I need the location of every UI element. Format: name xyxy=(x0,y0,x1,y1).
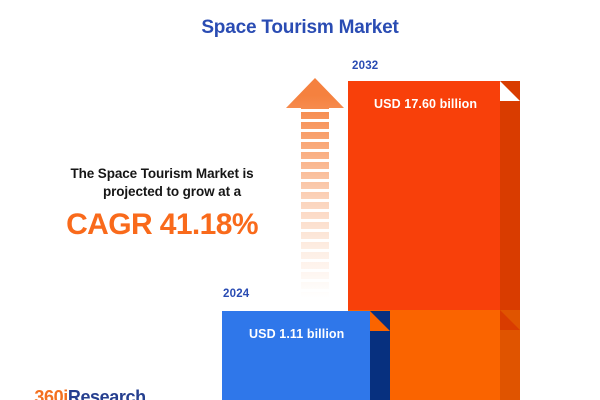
bar-2024-face xyxy=(222,311,370,400)
logo-text-orange: 360i xyxy=(34,387,67,400)
bar-2032-face-upper xyxy=(348,81,500,310)
brand-logo: 360iResearch xyxy=(16,366,146,400)
cagr-text-line-1: The Space Tourism Market is xyxy=(36,165,288,183)
logo-text-blue: Research xyxy=(68,387,146,400)
bar-label-2032: 2032 xyxy=(352,60,378,72)
bar-value-2024: USD 1.11 billion xyxy=(249,327,344,341)
infographic-canvas: Space Tourism Market xyxy=(0,0,600,400)
cagr-value: CAGR 41.18% xyxy=(36,208,288,242)
cagr-callout: The Space Tourism Market is projected to… xyxy=(36,165,288,242)
bar-value-2032: USD 17.60 billion xyxy=(374,97,477,111)
cagr-text-line-2: projected to grow at a xyxy=(36,183,288,201)
page-title: Space Tourism Market xyxy=(0,17,600,39)
bar-label-2024: 2024 xyxy=(223,288,249,300)
growth-arrow-icon xyxy=(286,78,344,298)
